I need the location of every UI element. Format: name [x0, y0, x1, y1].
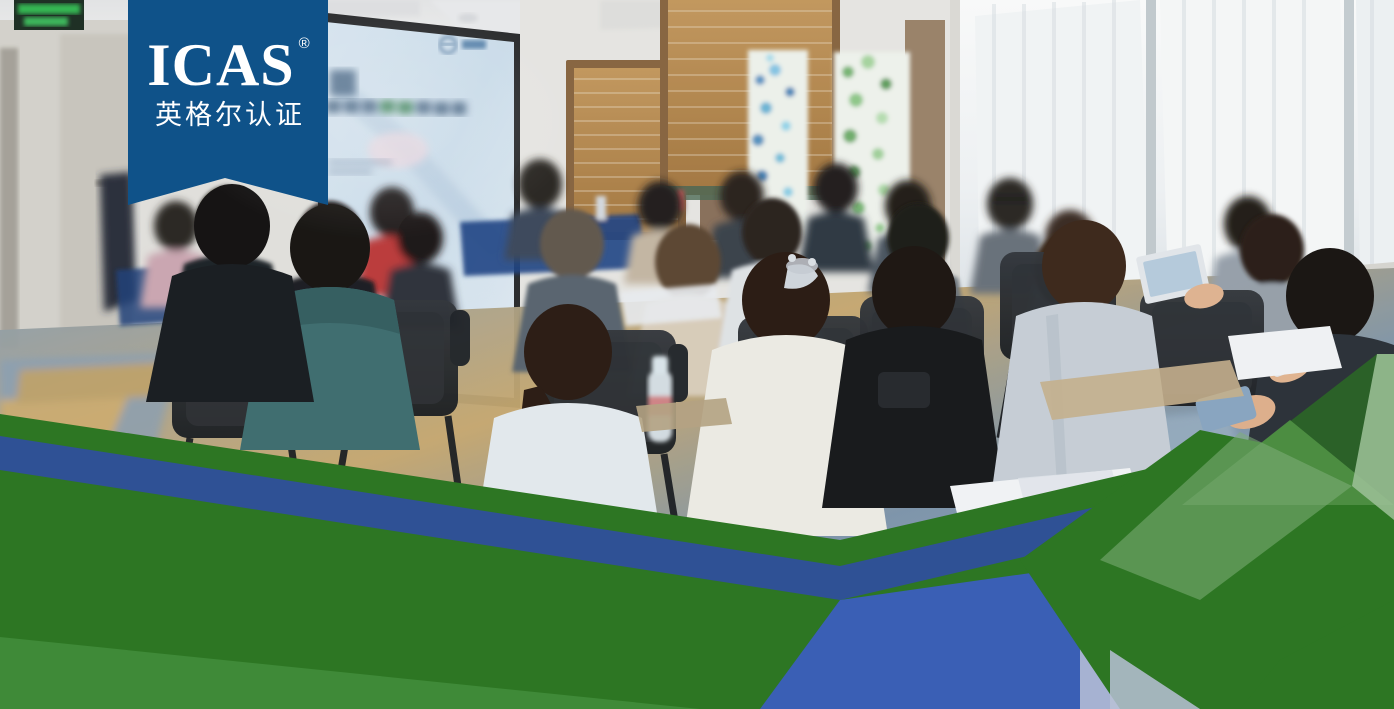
logo-block-shape — [128, 0, 328, 210]
banner-canvas: ICAS ® 英格尔认证 — [0, 0, 1394, 709]
logo-block-plate — [128, 0, 328, 205]
icas-logo-block: ICAS ® 英格尔认证 — [128, 0, 328, 210]
